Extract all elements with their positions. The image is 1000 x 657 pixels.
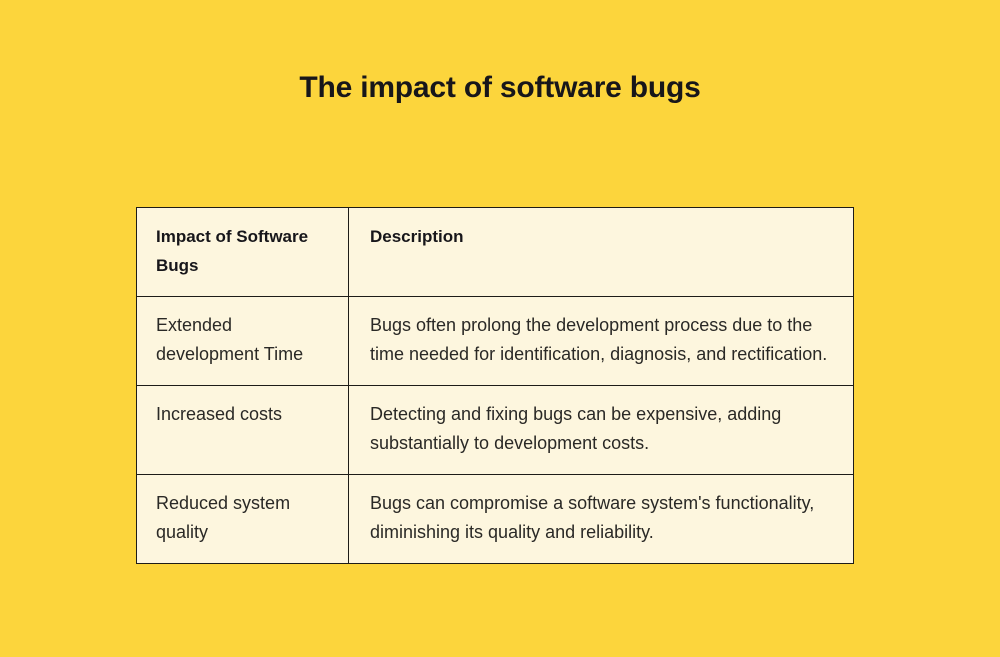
impact-table: Impact of Software Bugs Description Exte… <box>136 207 854 564</box>
table-body: Extended development Time Bugs often pro… <box>137 297 854 564</box>
cell-impact: Increased costs <box>137 386 349 475</box>
table-row: Reduced system quality Bugs can compromi… <box>137 475 854 564</box>
table-header-row: Impact of Software Bugs Description <box>137 208 854 297</box>
column-header-impact: Impact of Software Bugs <box>137 208 349 297</box>
table-row: Extended development Time Bugs often pro… <box>137 297 854 386</box>
page-title: The impact of software bugs <box>0 68 1000 108</box>
cell-description: Bugs often prolong the development proce… <box>349 297 854 386</box>
table-header: Impact of Software Bugs Description <box>137 208 854 297</box>
column-header-description: Description <box>349 208 854 297</box>
page-root: The impact of software bugs Impact of So… <box>0 0 1000 657</box>
cell-description: Bugs can compromise a software system's … <box>349 475 854 564</box>
table-row: Increased costs Detecting and fixing bug… <box>137 386 854 475</box>
impact-table-container: Impact of Software Bugs Description Exte… <box>136 207 853 564</box>
cell-description: Detecting and fixing bugs can be expensi… <box>349 386 854 475</box>
cell-impact: Extended development Time <box>137 297 349 386</box>
cell-impact: Reduced system quality <box>137 475 349 564</box>
